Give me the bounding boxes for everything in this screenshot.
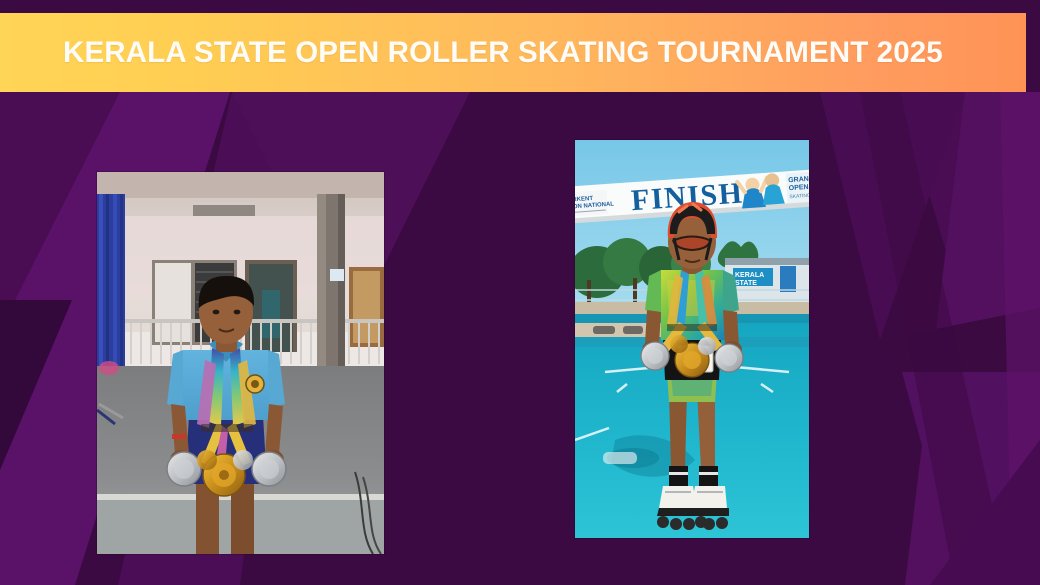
photo-left-illustration	[97, 172, 384, 554]
slide-title-banner: KERALA STATE OPEN ROLLER SKATING TOURNAM…	[0, 13, 1026, 92]
page-title: KERALA STATE OPEN ROLLER SKATING TOURNAM…	[63, 38, 943, 68]
photo-student-with-medals[interactable]	[97, 172, 384, 554]
photo-skater-with-medals[interactable]: FINISH ARKENT TION NATIONAL GRAND OPEN S…	[575, 140, 809, 538]
photo-right-illustration: FINISH ARKENT TION NATIONAL GRAND OPEN S…	[575, 140, 809, 538]
svg-text:STATE: STATE	[735, 280, 757, 287]
svg-text:GRAND: GRAND	[788, 175, 809, 184]
svg-text:KERALA: KERALA	[735, 272, 764, 279]
svg-text:OPEN: OPEN	[789, 184, 809, 192]
slide-canvas: KERALA STATE OPEN ROLLER SKATING TOURNAM…	[0, 0, 1040, 585]
